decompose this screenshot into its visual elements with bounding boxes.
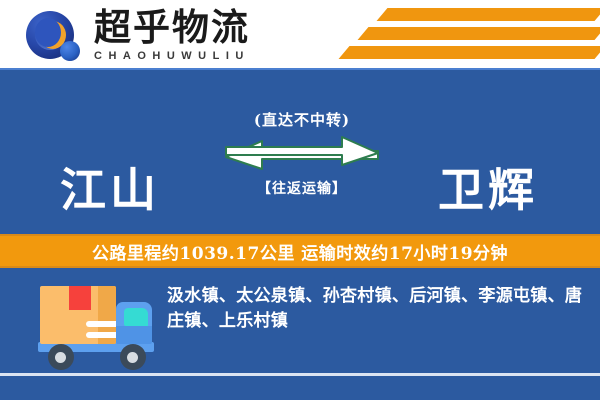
logo-crescent-cut [35, 18, 61, 47]
bottom-divider [0, 373, 600, 376]
stripe-2 [358, 27, 600, 40]
brand-name-cn: 超乎物流 [94, 6, 250, 48]
coverage-towns-section: 汲水镇、太公泉镇、孙杏村镇、后河镇、李源屯镇、唐庄镇、上乐村镇 [0, 270, 600, 400]
stripe-3 [339, 46, 600, 59]
truck-tape-2 [86, 332, 120, 338]
truck-cab-shade [116, 326, 152, 344]
truck-tape-1 [86, 321, 120, 327]
bidirectional-arrow-icon [222, 135, 382, 175]
circle-crescent-logo-icon [24, 10, 86, 62]
destination-city: 卫辉 [438, 165, 538, 215]
distance-duration-text: 公路里程约1039.17公里 运输时效约17小时19分钟 [92, 239, 508, 264]
decorative-stripes [340, 8, 600, 64]
brand-name-en: CHAOHUWULIU [94, 49, 250, 63]
truck-hub-front [127, 352, 138, 363]
logo-dot [60, 41, 80, 61]
coverage-towns-list: 汲水镇、太公泉镇、孙杏村镇、后河镇、李源屯镇、唐庄镇、上乐村镇 [167, 284, 585, 334]
distance-duration-bar: 公路里程约1039.17公里 运输时效约17小时19分钟 [0, 234, 600, 268]
direct-note: (直达不中转) [222, 110, 382, 130]
delivery-truck-icon [32, 280, 164, 370]
stripe-1 [377, 8, 600, 21]
truck-window [124, 308, 148, 326]
arrow-svg [222, 135, 382, 175]
logistics-route-poster: 超乎物流 CHAOHUWULIU 江山 (直达不中转) 【往返运输】 卫辉 公 [0, 0, 600, 400]
truck-cargo-label [69, 286, 91, 310]
truck-hub-rear [55, 352, 66, 363]
route-middle-block: (直达不中转) 【往返运输】 [222, 110, 382, 199]
roundtrip-note: 【往返运输】 [222, 179, 382, 199]
route-banner: 江山 (直达不中转) 【往返运输】 卫辉 [0, 70, 600, 232]
poster-header: 超乎物流 CHAOHUWULIU [0, 0, 600, 70]
brand-block: 超乎物流 CHAOHUWULIU [94, 6, 250, 63]
origin-city: 江山 [60, 165, 160, 215]
